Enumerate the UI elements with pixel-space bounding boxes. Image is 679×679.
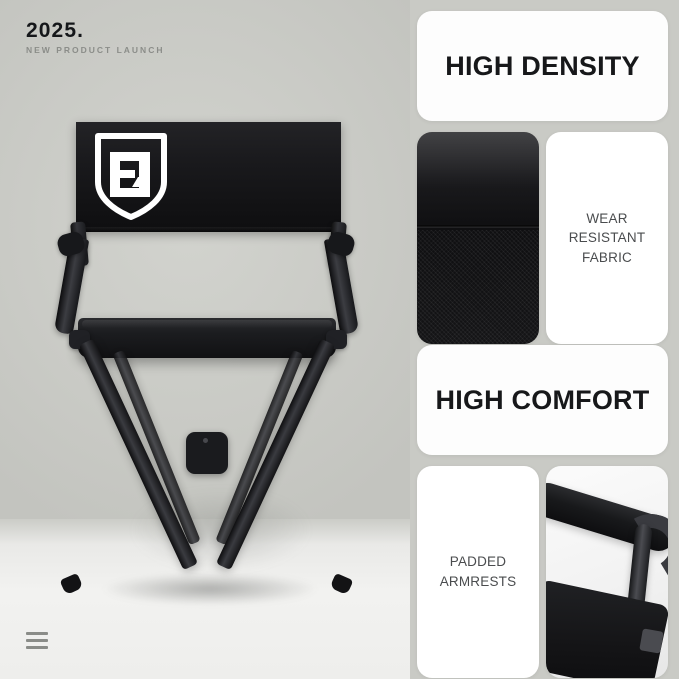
hero-kicker: 2025. NEW PRODUCT LAUNCH bbox=[26, 20, 164, 55]
chair-ground-shadow bbox=[60, 566, 360, 612]
caption-line-3: FABRIC bbox=[582, 250, 632, 265]
chair-leg-inner-right bbox=[215, 350, 303, 545]
caption-line-1: PADDED bbox=[450, 554, 506, 569]
director-chair-image bbox=[0, 0, 410, 679]
feature-card-grid: HIGH DENSITY WEAR RESISTANT FABRIC HIGH … bbox=[417, 11, 668, 668]
caption-line-2: ARMRESTS bbox=[440, 574, 517, 589]
feature-title-high-comfort: HIGH COMFORT bbox=[436, 385, 650, 416]
fabric-seam bbox=[417, 225, 539, 228]
feature-card-high-comfort: HIGH COMFORT bbox=[417, 345, 668, 455]
hero-panel: 2025. NEW PRODUCT LAUNCH bbox=[0, 0, 410, 679]
feature-title-high-density: HIGH DENSITY bbox=[445, 51, 639, 82]
kicker-year: 2025. bbox=[26, 20, 164, 41]
kicker-subtitle: NEW PRODUCT LAUNCH bbox=[26, 46, 164, 55]
feature-caption-wear-resistant: WEAR RESISTANT FABRIC bbox=[569, 209, 646, 268]
feature-caption-padded-armrests: PADDED ARMRESTS bbox=[440, 552, 517, 591]
hamburger-menu-icon[interactable] bbox=[26, 632, 48, 649]
fabric-swatch-card bbox=[417, 132, 539, 344]
chair-leg-outer-right bbox=[216, 339, 335, 571]
chair-backrest bbox=[76, 122, 341, 232]
chair-x-frame-hub bbox=[186, 432, 228, 474]
chair-leg-outer-left bbox=[79, 339, 198, 571]
armrest-clip bbox=[639, 628, 664, 653]
caption-line-2: RESISTANT bbox=[569, 230, 646, 245]
fabric-sheen bbox=[417, 132, 539, 225]
feature-card-high-density: HIGH DENSITY bbox=[417, 11, 668, 121]
ea-shield-logo bbox=[94, 132, 168, 220]
feature-card-wear-resistant: WEAR RESISTANT FABRIC bbox=[546, 132, 668, 344]
fabric-weave-texture bbox=[417, 230, 539, 344]
feature-card-padded-armrests: PADDED ARMRESTS bbox=[417, 466, 539, 678]
caption-line-1: WEAR bbox=[586, 211, 627, 226]
product-showcase: 2025. NEW PRODUCT LAUNCH HIGH DENSITY WE… bbox=[0, 0, 679, 679]
armrest-photo-card bbox=[546, 466, 668, 678]
